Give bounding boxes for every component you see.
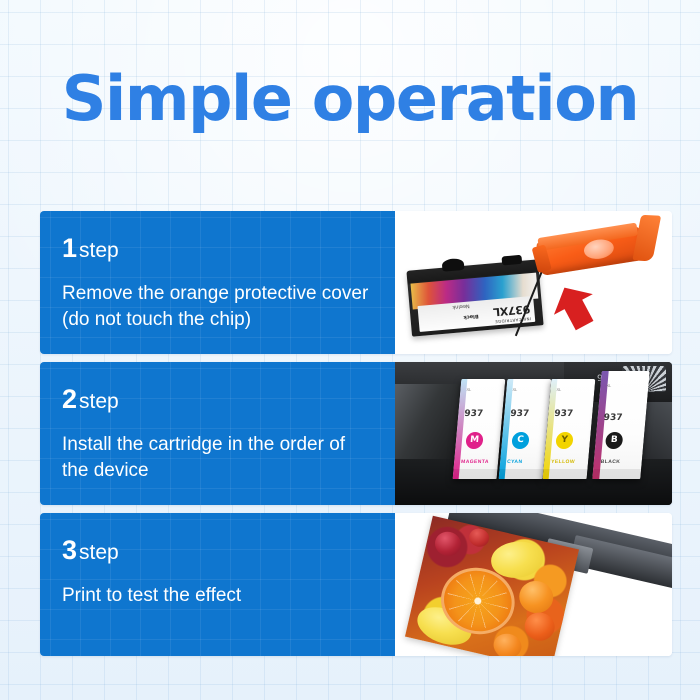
step-description: Install the cartridge in the order of th… [62,432,369,484]
cartridge-color-name: CYAN [507,459,523,465]
ink-cartridge-graphic: INK CARTRIDGE 937XL Black NeeInk [406,259,543,336]
cartridge-cover-illustration: INK CARTRIDGE 937XL Black NeeInk [395,211,672,354]
step-media: INK CARTRIDGE 937XL Black NeeInk [395,211,672,354]
cartridge-model-text: 937 [603,413,623,423]
step-number: 3 [62,535,77,565]
cartridge-foot [453,469,498,479]
step-text-panel: 3 step Print to test the effect [40,513,395,656]
installed-cartridge-yellow: XL 937 Y YELLOW [543,379,596,479]
fruit-tangerine-lower-right [522,610,558,644]
cartridge-port-icon [442,258,465,272]
steps-list: 1 step Remove the orange protective cove… [40,211,672,656]
step-text-panel: 2 step Install the cartridge in the orde… [40,362,395,505]
installed-cartridge-black: XL 937 B BLACK [592,371,649,479]
step-card: 2 step Install the cartridge in the orde… [40,362,672,505]
fruit-tangerine-right [516,578,556,617]
fruit-berry-small [467,527,491,549]
cartridge-color-name: BLACK [601,459,621,465]
fruit-berry [433,529,464,558]
page-root: Simple operation 1 step Remove the orang… [0,0,700,700]
red-arrow-icon [545,285,601,331]
cartridge-subtext: XL [556,387,561,392]
step-card: 1 step Remove the orange protective cove… [40,211,672,354]
printer-carriage-illustration: 924 K XL 937 M MAGENTA [395,362,672,505]
cartridge-foot [592,469,641,479]
step-media: 924 K XL 937 M MAGENTA [395,362,672,505]
cartridge-foot [499,469,544,479]
step-word: step [79,236,119,266]
printed-photo-illustration [395,513,672,656]
cartridge-clip-icon [501,255,522,266]
step-word: step [79,387,119,417]
step-media [395,513,672,656]
step-word: step [79,538,119,568]
step-text-panel: 1 step Remove the orange protective cove… [40,211,395,354]
step-heading: 2 step [62,384,369,417]
cartridge-color-name: YELLOW [551,459,575,465]
fruit-tangerine-bottom [491,631,524,656]
step-number: 2 [62,384,77,414]
step-description: Remove the orange protective cover (do n… [62,281,369,333]
step-heading: 3 step [62,535,369,568]
cartridge-brand-text: NeeInk [452,303,470,310]
cartridge-model-text: 937 [554,409,574,419]
cartridge-subtext: XL [466,387,471,392]
cartridge-model-text: 937 [464,409,484,419]
installed-cartridge-magenta: XL 937 M MAGENTA [453,379,506,479]
cartridge-subtext: XL [512,387,517,392]
page-title: Simple operation [0,66,700,132]
cartridge-subtext: XL [606,383,611,388]
step-card: 3 step Print to test the effect [40,513,672,656]
step-description: Print to test the effect [62,583,369,609]
cartridge-model-text: 937 [510,409,530,419]
cover-tab-right [632,215,661,262]
orange-protective-cover-graphic [535,214,660,286]
step-heading: 1 step [62,233,369,266]
cartridge-color-name: MAGENTA [461,459,489,465]
cartridge-foot [543,469,588,479]
cartridge-color-text: Black [463,313,479,320]
step-number: 1 [62,233,77,263]
